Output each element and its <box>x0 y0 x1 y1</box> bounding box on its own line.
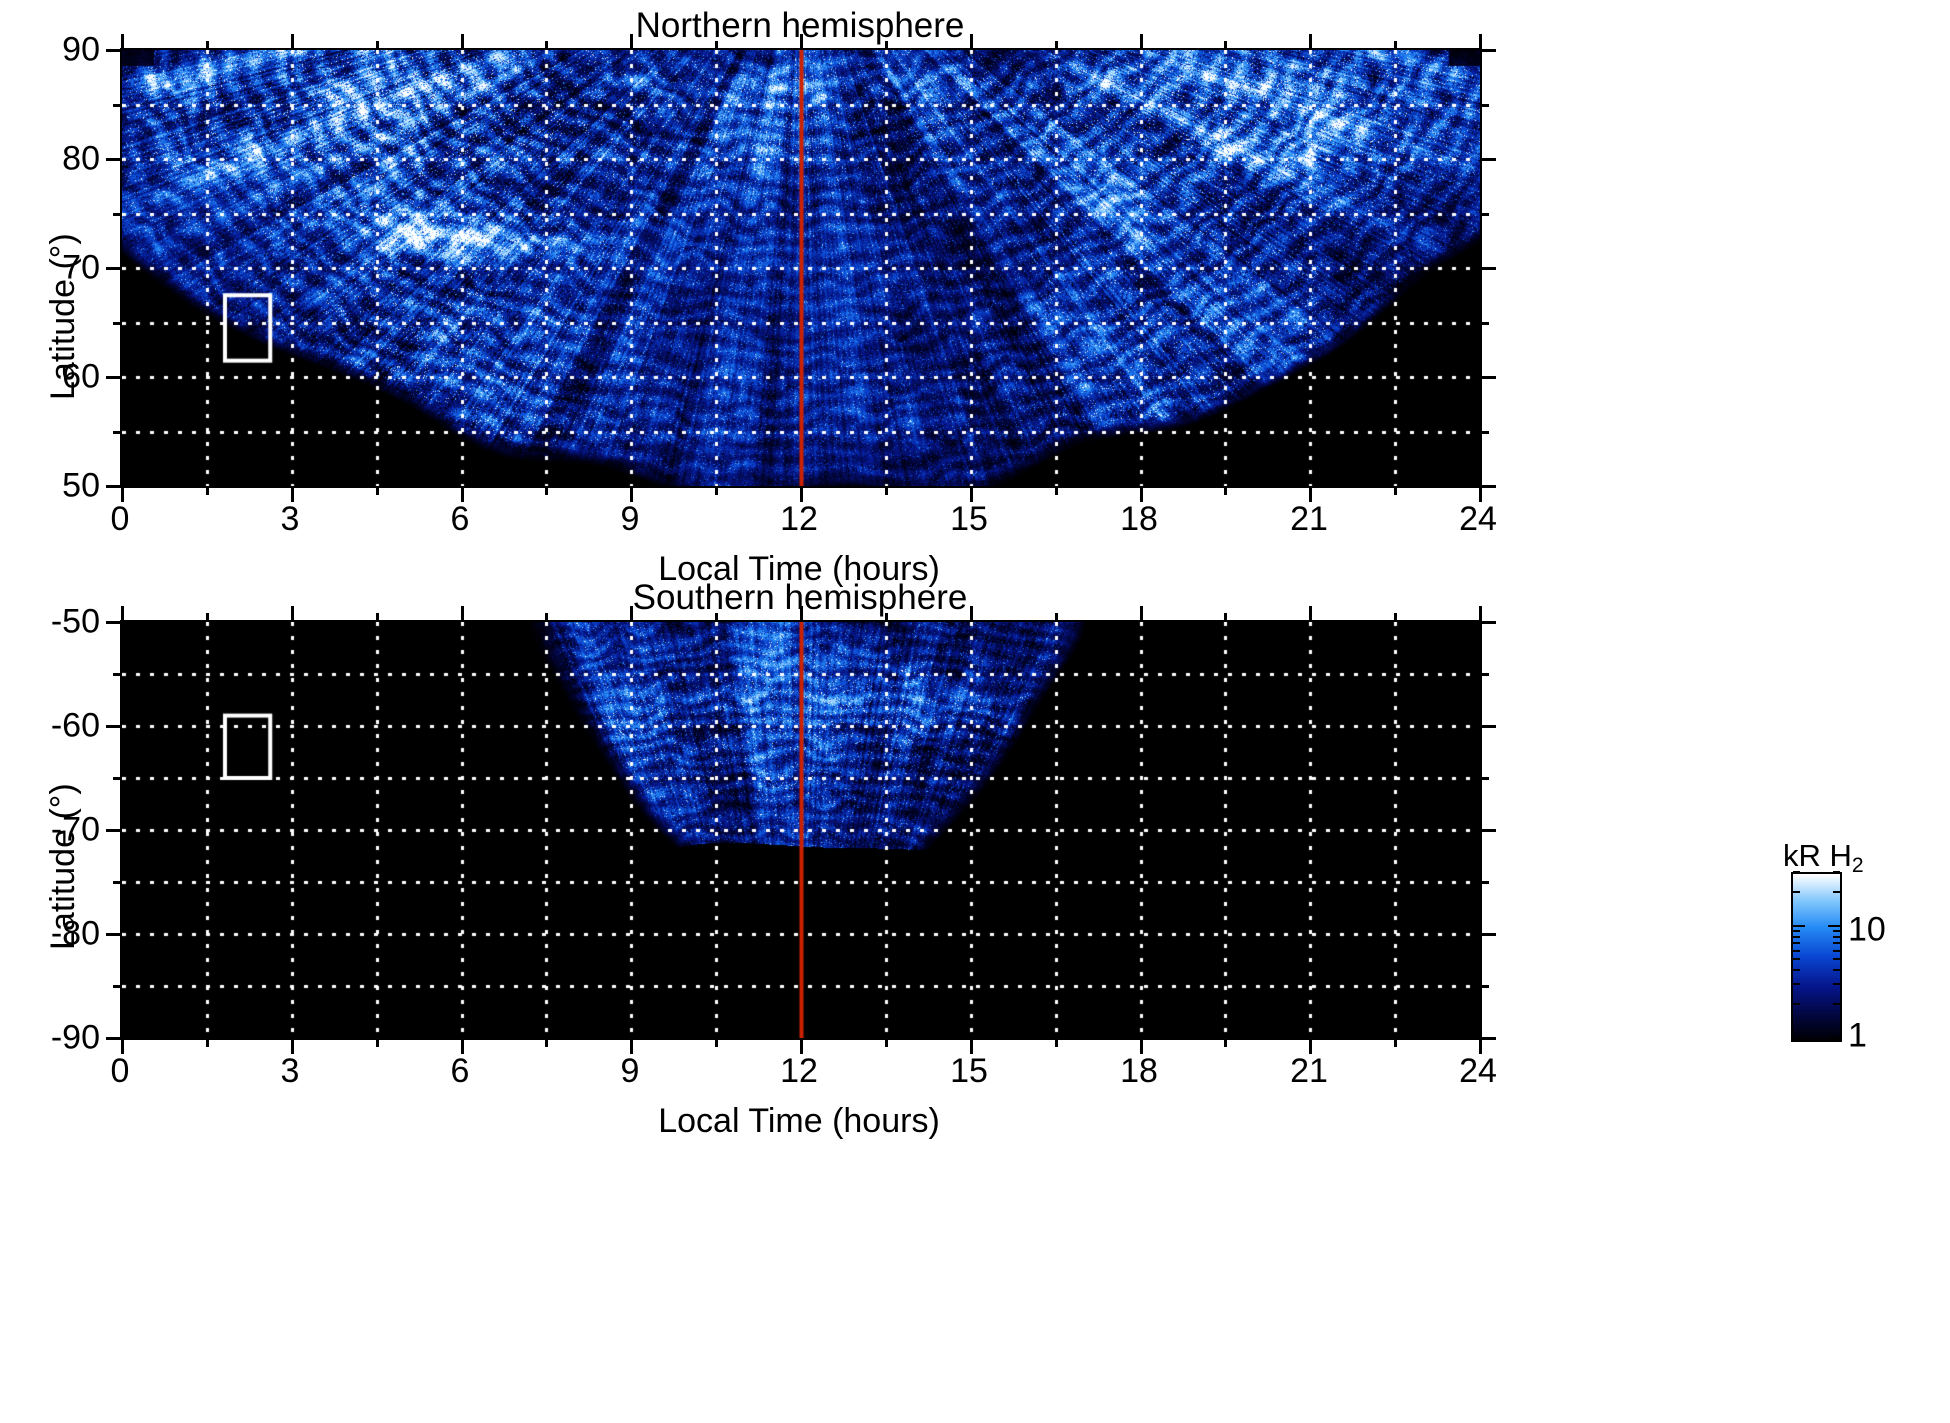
colorbar-tick-mark <box>1833 942 1840 944</box>
axis-tick-mark <box>970 1038 973 1054</box>
heatmap-southern <box>120 620 1482 1040</box>
axis-tick-mark <box>1224 486 1227 495</box>
colorbar-tick-10: 10 <box>1848 911 1886 950</box>
colorbar-tick-mark <box>1833 930 1840 932</box>
colorbar-tick-mark <box>1793 871 1800 873</box>
axis-tick-mark <box>106 267 122 270</box>
axis-tick-mark <box>113 213 122 216</box>
axis-tick-mark <box>121 606 124 622</box>
colorbar-tick-mark <box>1793 942 1800 944</box>
xtick-south-21: 21 <box>1290 1052 1328 1091</box>
axis-tick-mark <box>121 486 124 502</box>
colorbar-tick-mark <box>1828 925 1840 927</box>
axis-tick-mark <box>1479 34 1482 50</box>
axis-tick-mark <box>291 34 294 50</box>
colorbar-tick-mark <box>1833 891 1840 893</box>
axis-tick-mark <box>113 881 122 884</box>
axis-tick-mark <box>291 1038 294 1054</box>
colorbar-tick-mark <box>1833 983 1840 985</box>
axis-tick-mark <box>461 1038 464 1054</box>
axis-tick-mark <box>1479 606 1482 622</box>
ytick-north-50: 50 <box>10 467 100 506</box>
axis-tick-mark <box>106 376 122 379</box>
axis-tick-mark <box>106 621 122 624</box>
colorbar-tick-mark <box>1833 1003 1840 1005</box>
xtick-north-21: 21 <box>1290 500 1328 539</box>
axis-tick-mark <box>376 41 379 50</box>
axis-tick-mark <box>1480 933 1496 936</box>
ytick-north-80: 80 <box>10 140 100 179</box>
axis-tick-mark <box>1309 34 1312 50</box>
axis-tick-mark <box>630 486 633 502</box>
axis-tick-mark <box>970 34 973 50</box>
axis-tick-mark <box>1480 725 1496 728</box>
axis-tick-mark <box>800 1038 803 1054</box>
ytick-north-90: 90 <box>10 31 100 70</box>
axis-tick-mark <box>715 41 718 50</box>
colorbar-tick-mark <box>1793 950 1800 952</box>
axis-tick-mark <box>113 431 122 434</box>
axis-tick-mark <box>545 41 548 50</box>
colorbar-tick-mark <box>1793 1003 1800 1005</box>
axis-tick-mark <box>630 34 633 50</box>
colorbar-tick-1: 1 <box>1848 1017 1867 1056</box>
axis-tick-mark <box>1480 213 1489 216</box>
axis-tick-mark <box>1140 606 1143 622</box>
axis-tick-mark <box>206 613 209 622</box>
axis-tick-mark <box>1480 267 1496 270</box>
axis-tick-mark <box>291 486 294 502</box>
axis-tick-mark <box>1479 1038 1482 1054</box>
axis-tick-mark <box>1224 613 1227 622</box>
axis-tick-mark <box>1055 486 1058 495</box>
axis-tick-mark <box>885 613 888 622</box>
axis-tick-mark <box>376 613 379 622</box>
xtick-south-3: 3 <box>281 1052 300 1091</box>
axis-tick-mark <box>1394 613 1397 622</box>
axis-tick-mark <box>1480 158 1496 161</box>
axis-tick-mark <box>206 1038 209 1047</box>
axis-tick-mark <box>800 486 803 502</box>
xtick-north-18: 18 <box>1120 500 1158 539</box>
axis-tick-mark <box>885 486 888 495</box>
colorbar-tick-mark <box>1793 891 1800 893</box>
axis-tick-mark <box>1480 1037 1496 1040</box>
ytick-south-50: -50 <box>0 603 100 642</box>
axis-tick-mark <box>1224 41 1227 50</box>
xtick-south-18: 18 <box>1120 1052 1158 1091</box>
axis-tick-mark <box>800 34 803 50</box>
axis-tick-mark <box>121 1038 124 1054</box>
axis-tick-mark <box>1055 613 1058 622</box>
xtick-south-15: 15 <box>950 1052 988 1091</box>
axis-tick-mark <box>1480 376 1496 379</box>
yaxis-label-southern: Latitude (°) <box>44 783 83 950</box>
colorbar-tick-mark <box>1793 1037 1805 1039</box>
axis-tick-mark <box>106 49 122 52</box>
xtick-north-15: 15 <box>950 500 988 539</box>
axis-tick-mark <box>630 606 633 622</box>
colorbar-tick-mark <box>1793 936 1800 938</box>
axis-tick-mark <box>106 158 122 161</box>
axis-tick-mark <box>1480 104 1489 107</box>
axis-tick-mark <box>970 606 973 622</box>
axis-tick-mark <box>106 1037 122 1040</box>
axis-tick-mark <box>106 829 122 832</box>
axis-tick-mark <box>106 933 122 936</box>
axis-tick-mark <box>1309 606 1312 622</box>
ytick-south-60: -60 <box>0 707 100 746</box>
colorbar-tick-mark <box>1833 958 1840 960</box>
colorbar-tick-mark <box>1833 871 1840 873</box>
axis-tick-mark <box>1480 431 1489 434</box>
axis-tick-mark <box>1055 41 1058 50</box>
colorbar-tick-mark <box>1833 969 1840 971</box>
axis-tick-mark <box>1394 1038 1397 1047</box>
axis-tick-mark <box>376 1038 379 1047</box>
figure-root: Northern hemisphere 90 80 70 60 50 Latit… <box>0 0 1950 1423</box>
axis-tick-mark <box>970 486 973 502</box>
axis-tick-mark <box>630 1038 633 1054</box>
xtick-north-9: 9 <box>621 500 640 539</box>
xtick-north-3: 3 <box>281 500 300 539</box>
xtick-north-12: 12 <box>780 500 818 539</box>
axis-tick-mark <box>1480 673 1489 676</box>
axis-tick-mark <box>1309 1038 1312 1054</box>
colorbar-tick-mark <box>1793 930 1800 932</box>
axis-tick-mark <box>1480 621 1496 624</box>
axis-tick-mark <box>1055 1038 1058 1047</box>
axis-tick-mark <box>885 1038 888 1047</box>
axis-tick-mark <box>461 34 464 50</box>
axis-tick-mark <box>206 41 209 50</box>
axis-tick-mark <box>545 486 548 495</box>
colorbar-gradient <box>1791 872 1842 1042</box>
axis-tick-mark <box>376 486 379 495</box>
axis-tick-mark <box>1480 881 1489 884</box>
axis-tick-mark <box>113 104 122 107</box>
axis-tick-mark <box>1394 486 1397 495</box>
axis-tick-mark <box>885 41 888 50</box>
xtick-south-6: 6 <box>451 1052 470 1091</box>
xaxis-label-southern: Local Time (hours) <box>120 1102 1478 1141</box>
axis-tick-mark <box>461 486 464 502</box>
xtick-south-0: 0 <box>111 1052 130 1091</box>
axis-tick-mark <box>1480 985 1489 988</box>
axis-tick-mark <box>1394 41 1397 50</box>
axis-tick-mark <box>1479 486 1482 502</box>
axis-tick-mark <box>545 1038 548 1047</box>
colorbar-tick-mark <box>1793 925 1805 927</box>
yaxis-label-northern: Latitude (°) <box>44 233 83 400</box>
colorbar-tick-mark <box>1828 1037 1840 1039</box>
axis-tick-mark <box>1140 486 1143 502</box>
axis-tick-mark <box>121 34 124 50</box>
colorbar-tick-mark <box>1833 936 1840 938</box>
axis-tick-mark <box>1309 486 1312 502</box>
colorbar-tick-mark <box>1793 983 1800 985</box>
axis-tick-mark <box>1224 1038 1227 1047</box>
xtick-north-0: 0 <box>111 500 130 539</box>
xtick-south-24: 24 <box>1459 1052 1497 1091</box>
axis-tick-mark <box>1480 49 1496 52</box>
axis-tick-mark <box>113 673 122 676</box>
colorbar-tick-mark <box>1793 958 1800 960</box>
xtick-south-9: 9 <box>621 1052 640 1091</box>
axis-tick-mark <box>800 606 803 622</box>
axis-tick-mark <box>715 613 718 622</box>
axis-tick-mark <box>1480 485 1496 488</box>
axis-tick-mark <box>715 486 718 495</box>
axis-tick-mark <box>715 1038 718 1047</box>
colorbar-tick-mark <box>1833 950 1840 952</box>
colorbar-tick-mark <box>1793 969 1800 971</box>
axis-tick-mark <box>461 606 464 622</box>
axis-tick-mark <box>106 725 122 728</box>
axis-tick-mark <box>1140 34 1143 50</box>
axis-tick-mark <box>1480 322 1489 325</box>
xtick-north-6: 6 <box>451 500 470 539</box>
axis-tick-mark <box>1140 1038 1143 1054</box>
xtick-south-12: 12 <box>780 1052 818 1091</box>
axis-tick-mark <box>113 777 122 780</box>
heatmap-northern <box>120 48 1482 488</box>
axis-tick-mark <box>106 485 122 488</box>
axis-tick-mark <box>1480 777 1489 780</box>
xtick-north-24: 24 <box>1459 500 1497 539</box>
axis-tick-mark <box>545 613 548 622</box>
axis-tick-mark <box>113 322 122 325</box>
axis-tick-mark <box>206 486 209 495</box>
axis-tick-mark <box>113 985 122 988</box>
ytick-south-90: -90 <box>0 1019 100 1058</box>
axis-tick-mark <box>1480 829 1496 832</box>
axis-tick-mark <box>291 606 294 622</box>
